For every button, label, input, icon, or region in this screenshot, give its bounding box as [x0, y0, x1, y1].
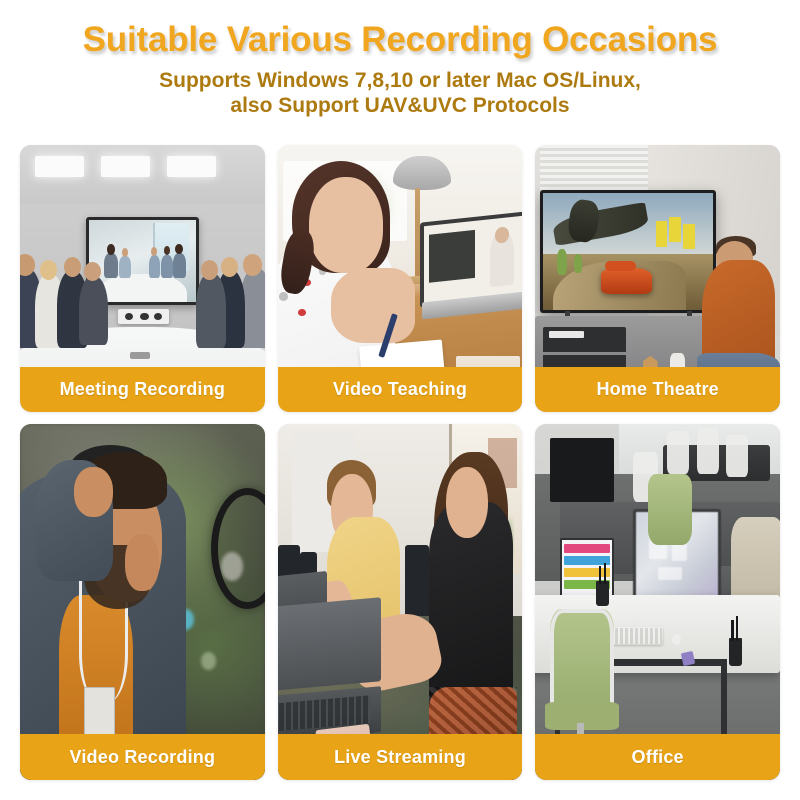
- tile-video-recording[interactable]: Video Recording: [20, 424, 265, 780]
- caption-video-recording: Video Recording: [20, 734, 265, 780]
- subtitle-line-1: Supports Windows 7,8,10 or later Mac OS/…: [0, 68, 800, 93]
- tile-live-streaming[interactable]: Live Streaming: [278, 424, 523, 780]
- caption-office: Office: [535, 734, 780, 780]
- photo-live-streaming: [278, 424, 523, 780]
- caption-home-theatre: Home Theatre: [535, 367, 780, 412]
- subtitle-line-2: also Support UAV&UVC Protocols: [0, 93, 800, 118]
- caption-video-teaching: Video Teaching: [278, 367, 523, 412]
- page-title: Suitable Various Recording Occasions: [0, 22, 800, 59]
- tile-office[interactable]: V Office: [535, 424, 780, 780]
- product-feature-banner: Suitable Various Recording Occasions Sup…: [0, 0, 800, 800]
- soundbar-camera-icon: [118, 309, 169, 324]
- tile-video-teaching[interactable]: Video Teaching: [278, 145, 523, 412]
- photo-video-recording: [20, 424, 265, 780]
- caption-meeting-recording: Meeting Recording: [20, 367, 265, 412]
- laptop-icon: [278, 602, 381, 737]
- page-subtitle: Supports Windows 7,8,10 or later Mac OS/…: [0, 68, 800, 118]
- background-monitor: [550, 438, 614, 502]
- tile-home-theatre[interactable]: Home Theatre: [535, 145, 780, 412]
- id-badge: [84, 687, 116, 737]
- television-icon: [540, 190, 716, 313]
- office-chair-back: [648, 474, 692, 545]
- use-case-grid: Meeting Recording: [20, 145, 780, 780]
- game-car: [601, 268, 652, 294]
- caption-live-streaming: Live Streaming: [278, 734, 523, 780]
- photo-office: V: [535, 424, 780, 780]
- laptop-icon: [420, 217, 523, 302]
- header: Suitable Various Recording Occasions Sup…: [0, 0, 800, 118]
- tile-meeting-recording[interactable]: Meeting Recording: [20, 145, 265, 412]
